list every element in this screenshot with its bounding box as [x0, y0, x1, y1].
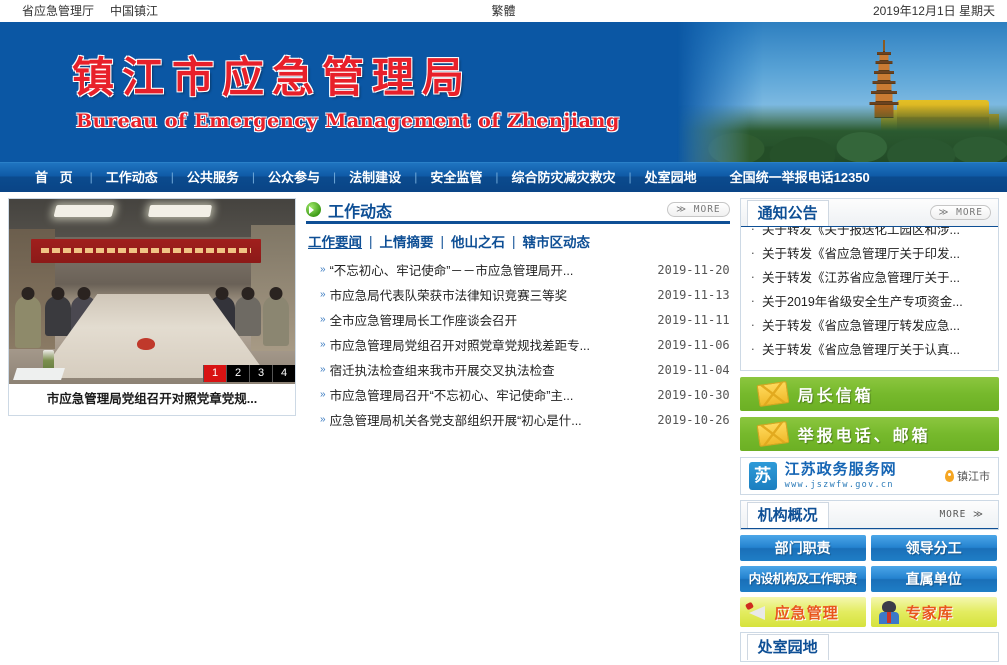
org-cell-internal-org[interactable]: 内设机构及工作职责 — [740, 566, 866, 592]
work-dynamics-subtabs: 工作要闻 | 上情摘要 | 他山之石 | 辖市区动态 — [306, 224, 730, 257]
chevron-right-icon: » — [320, 339, 324, 350]
speaker-icon — [306, 202, 321, 217]
paper-stack — [13, 368, 65, 380]
right-column: 通知公告 ≫ MORE · 关于转发《关于报送化工园区和涉... · 关于转发《… — [740, 198, 999, 662]
chevron-right-icon: » — [320, 414, 324, 425]
list-item[interactable]: » 全市应急管理局长工作座谈会召开 2019-11-11 — [306, 307, 730, 332]
chevron-right-icon: » — [320, 364, 324, 375]
news-title[interactable]: 宿迁执法检查组来我市开展交叉执法检查 — [330, 360, 648, 379]
banner-title-block: 镇江市应急管理局 Bureau of Emergency Management … — [0, 22, 1007, 132]
nav-item-legal-construction[interactable]: 法制建设 — [336, 167, 414, 186]
expert-icon — [877, 600, 901, 624]
chushi-title: 处室园地 — [747, 634, 829, 660]
notice-title: 通知公告 — [747, 200, 829, 226]
ceiling-light — [54, 205, 115, 217]
jszwfw-name: 江苏政务服务网 — [785, 461, 897, 478]
list-item[interactable]: » 市应急局代表队荣获市法律知识竞赛三等奖 2019-11-13 — [306, 282, 730, 307]
org-cell-emergency-management[interactable]: 应急管理 — [740, 597, 866, 627]
list-item[interactable]: » 市应急管理局召开“不忘初心、牢记使命”主... 2019-10-30 — [306, 382, 730, 407]
carousel-page-4[interactable]: 4 — [272, 365, 295, 382]
director-mailbox-button[interactable]: 局长信箱 — [740, 377, 999, 411]
site-banner: 镇江市应急管理局 Bureau of Emergency Management … — [0, 22, 1007, 162]
ceiling-light — [148, 205, 212, 217]
subtab-separator: | — [512, 234, 516, 249]
chevron-right-icon: » — [320, 389, 324, 400]
bullet-icon: · — [751, 293, 755, 308]
list-item[interactable]: » 市应急管理局党组召开对照党章党规找差距专... 2019-11-06 — [306, 332, 730, 357]
news-title[interactable]: 全市应急管理局长工作座谈会召开 — [330, 310, 648, 329]
table-flower — [137, 338, 155, 350]
carousel-page-1[interactable]: 1 — [203, 365, 226, 382]
work-dynamics-header: 工作动态 ≫ MORE — [306, 198, 730, 224]
jszwfw-city-label: 镇江市 — [957, 468, 990, 484]
person-figure — [15, 296, 41, 348]
bullet-icon: · — [751, 245, 755, 260]
nav-item-work-dynamics[interactable]: 工作动态 — [93, 167, 171, 186]
left-column: 1 2 3 4 市应急管理局党组召开对照党章党规... — [8, 198, 296, 662]
notice-title-text[interactable]: 关于转发《关于报送化工园区和涉... — [762, 227, 992, 238]
news-date: 2019-11-11 — [657, 313, 729, 327]
notice-title-text[interactable]: 关于转发《省应急管理厅转发应急... — [762, 315, 992, 334]
bullet-icon: · — [751, 269, 755, 284]
org-cell-expert-database[interactable]: 专家库 — [871, 597, 997, 627]
main-content-row: 1 2 3 4 市应急管理局党组召开对照党章党规... 工作动态 ≫ MORE … — [0, 192, 1007, 662]
notice-header: 通知公告 ≫ MORE — [741, 199, 998, 227]
list-item[interactable]: · 关于转发《江苏省应急管理厅关于... — [747, 264, 992, 288]
report-hotline-button[interactable]: 举报电话、邮箱 — [740, 417, 999, 451]
list-item[interactable]: » 宿迁执法检查组来我市开展交叉执法检查 2019-11-04 — [306, 357, 730, 382]
news-date: 2019-11-06 — [657, 338, 729, 352]
news-date: 2019-11-04 — [657, 363, 729, 377]
bullet-icon: · — [751, 341, 755, 356]
chevron-right-icon: » — [320, 289, 324, 300]
news-title[interactable]: 市应急管理局召开“不忘初心、牢记使命”主... — [330, 385, 648, 404]
work-dynamics-title: 工作动态 — [328, 198, 392, 222]
nav-item-safety-supervision[interactable]: 安全监管 — [417, 167, 495, 186]
list-item[interactable]: · 关于转发《省应急管理厅关于印发... — [747, 240, 992, 264]
center-column: 工作动态 ≫ MORE 工作要闻 | 上情摘要 | 他山之石 | 辖市区动态 »… — [306, 198, 730, 662]
list-item[interactable]: » “不忘初心、牢记使命”－－市应急管理局开... 2019-11-20 — [306, 257, 730, 282]
location-pin-icon — [945, 470, 954, 482]
subtab-other-stone[interactable]: 他山之石 — [451, 231, 505, 251]
current-date: 2019年12月1日 星期天 — [873, 2, 995, 19]
list-item[interactable]: · 关于转发《关于报送化工园区和涉... — [747, 227, 992, 240]
site-title-en: Bureau of Emergency Management of Zhenji… — [72, 110, 1007, 132]
report-hotline: 全国统一举报电话12350 — [730, 167, 870, 186]
list-item[interactable]: · 关于2019年省级安全生产专项资金... — [747, 288, 992, 312]
notice-panel: 通知公告 ≫ MORE · 关于转发《关于报送化工园区和涉... · 关于转发《… — [740, 198, 999, 371]
org-cell-department-duties[interactable]: 部门职责 — [740, 535, 866, 561]
chevron-right-icon: » — [320, 264, 324, 275]
person-figure — [235, 296, 261, 336]
subtab-separator: | — [369, 234, 373, 249]
su-logo-icon: 苏 — [749, 462, 777, 490]
carousel-photo — [9, 199, 295, 384]
carousel-pagination: 1 2 3 4 — [203, 365, 295, 382]
carousel-page-3[interactable]: 3 — [249, 365, 272, 382]
person-figure — [45, 296, 71, 336]
news-title[interactable]: 应急管理局机关各党支部组织开展“初心是什... — [330, 410, 648, 429]
org-cell-leader-division[interactable]: 领导分工 — [871, 535, 997, 561]
work-dynamics-section: 工作动态 ≫ MORE 工作要闻 | 上情摘要 | 他山之石 | 辖市区动态 »… — [306, 198, 730, 432]
megaphone-icon — [745, 602, 771, 622]
notice-title-text[interactable]: 关于转发《江苏省应急管理厅关于... — [762, 267, 992, 286]
work-dynamics-more-button[interactable]: ≫ MORE — [667, 202, 730, 217]
list-item[interactable]: · 关于转发《省应急管理厅转发应急... — [747, 312, 992, 336]
expert-database-label: 专家库 — [906, 602, 954, 623]
main-navigation: 首 页 | 工作动态 | 公共服务 | 公众参与 | 法制建设 | 安全监管 |… — [0, 162, 1007, 192]
subtab-separator: | — [441, 234, 445, 249]
emergency-management-label: 应急管理 — [775, 602, 839, 623]
bullet-icon: · — [751, 317, 755, 332]
news-date: 2019-10-26 — [657, 413, 729, 427]
nav-item-disaster-relief[interactable]: 综合防灾减灾救灾 — [498, 167, 628, 186]
notice-title-text[interactable]: 关于转发《省应急管理厅关于认真... — [762, 339, 992, 358]
list-item[interactable]: » 应急管理局机关各党支部组织开展“初心是什... 2019-10-26 — [306, 407, 730, 432]
news-title[interactable]: 市应急局代表队荣获市法律知识竞赛三等奖 — [330, 285, 648, 304]
person-figure — [263, 296, 289, 346]
notice-body: · 关于转发《关于报送化工园区和涉... · 关于转发《省应急管理厅关于印发..… — [741, 227, 998, 370]
org-overview-more-button[interactable]: MORE ≫ — [932, 508, 991, 521]
notice-list: · 关于转发《关于报送化工园区和涉... · 关于转发《省应急管理厅关于印发..… — [747, 227, 992, 360]
org-overview-title: 机构概况 — [747, 502, 829, 528]
org-cell-affiliated-units[interactable]: 直属单位 — [871, 566, 997, 592]
carousel-caption[interactable]: 市应急管理局党组召开对照党章党规... — [9, 384, 295, 415]
report-hotline-label: 举报电话、邮箱 — [798, 422, 931, 446]
subtab-work-news[interactable]: 工作要闻 — [308, 231, 362, 251]
news-date: 2019-10-30 — [657, 388, 729, 402]
language-toggle[interactable]: 繁體 — [0, 2, 1007, 19]
nav-item-home[interactable]: 首 页 — [22, 167, 90, 186]
chevron-right-icon: » — [320, 314, 324, 325]
jszwfw-city-block[interactable]: 镇江市 — [945, 468, 990, 484]
nav-item-public-service[interactable]: 公共服务 — [174, 167, 252, 186]
notice-title-text[interactable]: 关于转发《省应急管理厅关于印发... — [762, 243, 992, 262]
jszwfw-text-block: 江苏政务服务网 www.jszwfw.gov.cn — [785, 462, 897, 491]
meeting-banner — [31, 239, 261, 263]
jszwfw-banner[interactable]: 苏 江苏政务服务网 www.jszwfw.gov.cn 镇江市 — [740, 457, 999, 495]
news-date: 2019-11-13 — [657, 288, 729, 302]
top-utility-bar: 省应急管理厅 中国镇江 繁體 2019年12月1日 星期天 — [0, 0, 1007, 22]
chushi-panel: 处室园地 — [740, 632, 999, 662]
org-overview-panel: 机构概况 MORE ≫ — [740, 500, 999, 530]
envelope-icon — [756, 381, 789, 407]
carousel-page-2[interactable]: 2 — [226, 365, 249, 382]
org-overview-header: 机构概况 MORE ≫ — [741, 501, 998, 529]
news-image-carousel[interactable]: 1 2 3 4 市应急管理局党组召开对照党章党规... — [8, 198, 296, 416]
nav-item-public-participation[interactable]: 公众参与 — [255, 167, 333, 186]
jszwfw-url: www.jszwfw.gov.cn — [785, 480, 894, 490]
work-dynamics-list: » “不忘初心、牢记使命”－－市应急管理局开... 2019-11-20 » 市… — [306, 257, 730, 432]
page-root: 省应急管理厅 中国镇江 繁體 2019年12月1日 星期天 镇江市应急管理局 B… — [0, 0, 1007, 665]
news-title[interactable]: 市应急管理局党组召开对照党章党规找差距专... — [330, 335, 648, 354]
news-title[interactable]: “不忘初心、牢记使命”－－市应急管理局开... — [330, 260, 648, 279]
site-title-cn: 镇江市应急管理局 — [72, 56, 1007, 100]
news-date: 2019-11-20 — [657, 263, 729, 277]
director-mailbox-label: 局长信箱 — [798, 382, 874, 406]
subtab-district-news[interactable]: 辖市区动态 — [523, 231, 591, 251]
envelope-icon — [756, 421, 789, 447]
list-item[interactable]: · 关于转发《省应急管理厅关于认真... — [747, 336, 992, 360]
nav-item-department-garden[interactable]: 处室园地 — [632, 167, 710, 186]
nav-item-list: 首 页 | 工作动态 | 公共服务 | 公众参与 | 法制建设 | 安全监管 |… — [0, 167, 710, 186]
org-overview-grid: 部门职责 领导分工 内设机构及工作职责 直属单位 应急管理 专家库 — [740, 535, 999, 627]
subtab-summary[interactable]: 上情摘要 — [380, 231, 434, 251]
notice-title-text[interactable]: 关于2019年省级安全生产专项资金... — [762, 291, 992, 310]
bullet-icon: · — [751, 227, 755, 236]
notice-more-button[interactable]: ≫ MORE — [930, 205, 991, 220]
